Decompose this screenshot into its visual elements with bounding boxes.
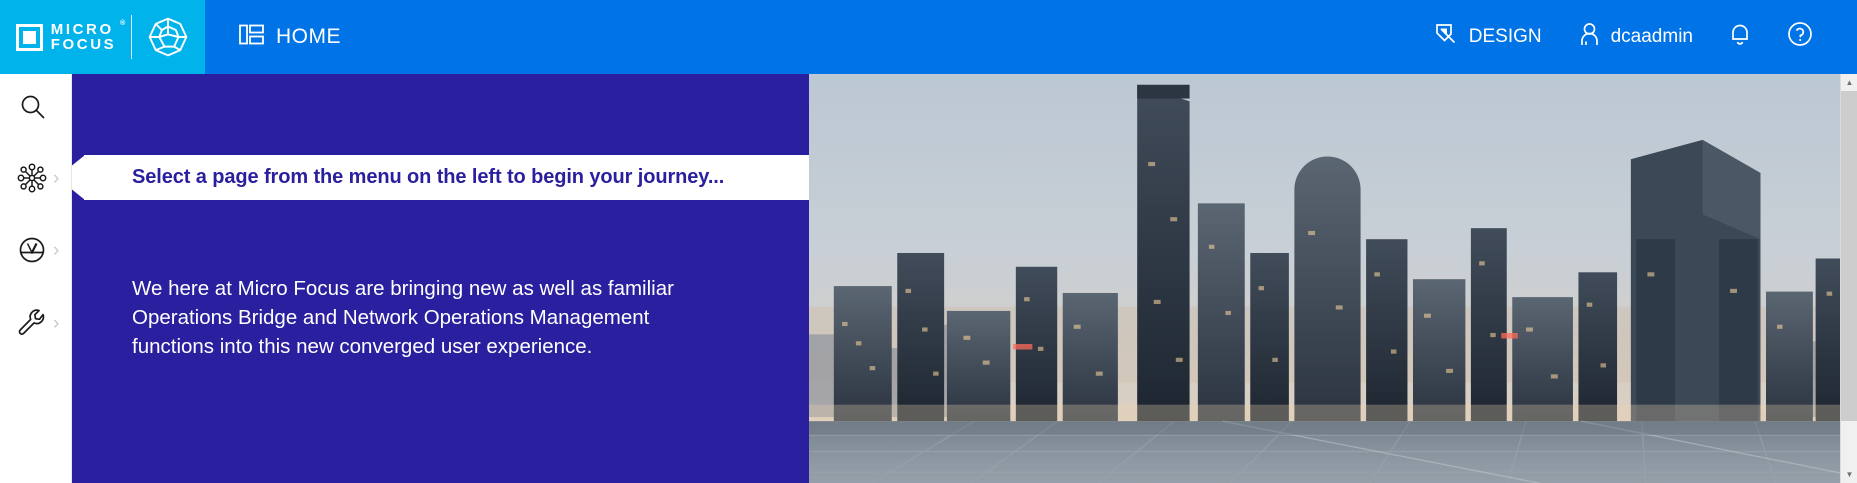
nav-home-label: HOME bbox=[276, 25, 341, 49]
chevron-right-icon: › bbox=[53, 169, 59, 188]
user-icon bbox=[1578, 22, 1601, 52]
design-label: DESIGN bbox=[1469, 26, 1542, 48]
micro-focus-square-icon bbox=[16, 24, 43, 51]
search-icon bbox=[9, 93, 55, 120]
scroll-up-button[interactable]: ▲ bbox=[1841, 74, 1857, 91]
bell-icon bbox=[1729, 22, 1751, 52]
network-nodes-icon bbox=[9, 163, 55, 193]
hero-image bbox=[809, 74, 1857, 483]
aperture-icon bbox=[147, 16, 189, 58]
gauge-icon bbox=[9, 236, 55, 264]
banner-text: Select a page from the menu on the left … bbox=[132, 166, 724, 189]
micro-focus-wordmark: MICRO FOCUS bbox=[51, 22, 117, 53]
scrollbar-thumb[interactable] bbox=[1841, 91, 1857, 421]
design-tag-icon bbox=[1435, 23, 1459, 51]
help-button[interactable] bbox=[1769, 0, 1831, 74]
intro-paragraph: We here at Micro Focus are bringing new … bbox=[132, 274, 732, 361]
micro-focus-logo: MICRO FOCUS bbox=[16, 22, 117, 53]
sidebar-item-dashboard[interactable]: › bbox=[0, 227, 72, 273]
top-header: MICRO FOCUS bbox=[0, 0, 1857, 74]
scroll-down-button[interactable]: ▼ bbox=[1841, 466, 1857, 483]
left-sidebar: › › bbox=[0, 74, 72, 483]
city-skyline-photo bbox=[809, 74, 1857, 483]
app-root: MICRO FOCUS bbox=[0, 0, 1857, 483]
sidebar-item-administration[interactable]: › bbox=[0, 300, 72, 346]
arrow-left-shape bbox=[72, 155, 85, 200]
intro-panel: Select a page from the menu on the left … bbox=[72, 74, 809, 483]
wrench-icon bbox=[9, 309, 55, 337]
layout-panels-icon bbox=[239, 24, 264, 50]
vertical-scrollbar[interactable]: ▲ ▼ bbox=[1840, 74, 1857, 483]
brand-line-2: FOCUS bbox=[51, 37, 117, 52]
logo-divider bbox=[131, 15, 132, 59]
body-area: › › bbox=[0, 74, 1857, 483]
main-content: Select a page from the menu on the left … bbox=[72, 74, 1857, 483]
design-button[interactable]: DESIGN bbox=[1417, 0, 1560, 74]
header-actions: DESIGN dcaadmin bbox=[1417, 0, 1857, 74]
help-circle-icon bbox=[1787, 21, 1813, 53]
chevron-right-icon: › bbox=[53, 314, 59, 333]
chevron-right-icon: › bbox=[53, 241, 59, 260]
notifications-button[interactable] bbox=[1711, 0, 1769, 74]
brand-line-1: MICRO bbox=[51, 22, 117, 37]
user-name-label: dcaadmin bbox=[1611, 26, 1693, 48]
brand-logo-block[interactable]: MICRO FOCUS bbox=[0, 0, 205, 74]
sidebar-item-search[interactable] bbox=[0, 83, 72, 129]
sidebar-item-topology[interactable]: › bbox=[0, 155, 72, 201]
nav-home[interactable]: HOME bbox=[233, 0, 347, 74]
user-menu[interactable]: dcaadmin bbox=[1560, 0, 1711, 74]
banner-callout: Select a page from the menu on the left … bbox=[84, 155, 809, 200]
